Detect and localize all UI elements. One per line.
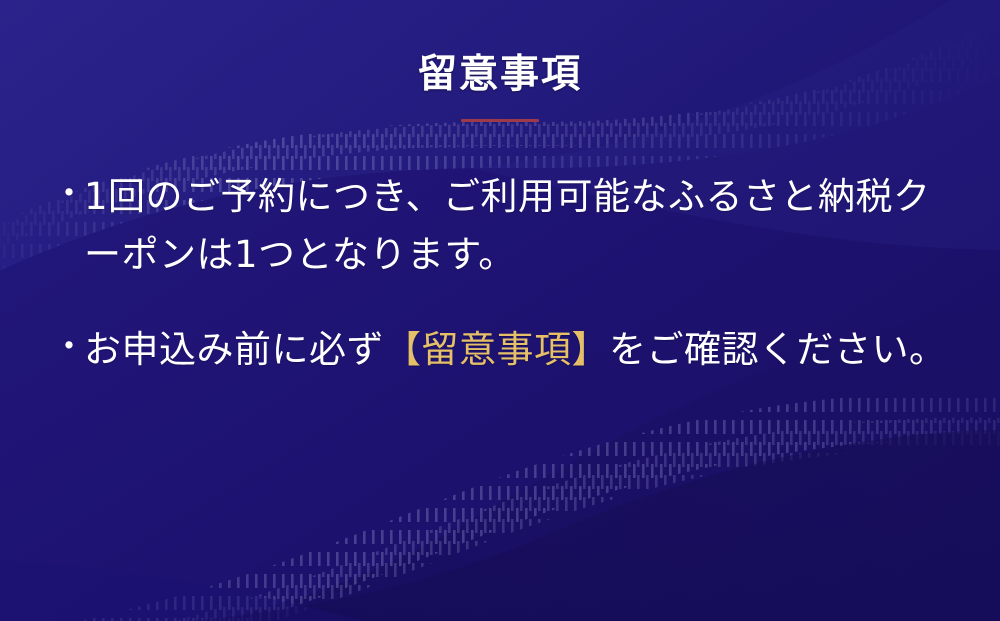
texture-band-lower — [0, 392, 1000, 621]
list-item: ・ お申込み前に必ず【留意事項】をご確認ください。 — [52, 321, 960, 379]
note-text-2: お申込み前に必ず【留意事項】をご確認ください。 — [84, 321, 960, 379]
notes-list: ・ 1回のご予約につき、ご利用可能なふるさと納税クーポンは1つとなります。 ・ … — [52, 168, 960, 379]
note-segment-plain: 1回のご予約につき、ご利用可能なふるさと納税クーポンは1つとなります。 — [84, 175, 930, 276]
note-segment-plain: お申込み前に必ず — [84, 328, 384, 371]
swoosh-bottom-lobe — [120, 430, 1000, 621]
title-underline-rule — [461, 119, 539, 122]
note-text-1: 1回のご予約につき、ご利用可能なふるさと納税クーポンは1つとなります。 — [84, 168, 960, 285]
note-segment-plain-tail: をご確認ください。 — [609, 328, 947, 371]
note-segment-highlight: 【留意事項】 — [384, 328, 609, 371]
slide-header: 留意事項 — [0, 54, 1000, 122]
swoosh-bottom-left — [0, 560, 380, 621]
bullet-icon: ・ — [52, 168, 84, 222]
page-title: 留意事項 — [0, 54, 1000, 97]
list-item: ・ 1回のご予約につき、ご利用可能なふるさと納税クーポンは1つとなります。 — [52, 168, 960, 285]
notice-slide: 留意事項 ・ 1回のご予約につき、ご利用可能なふるさと納税クーポンは1つとなりま… — [0, 0, 1000, 621]
bullet-icon: ・ — [52, 321, 84, 375]
